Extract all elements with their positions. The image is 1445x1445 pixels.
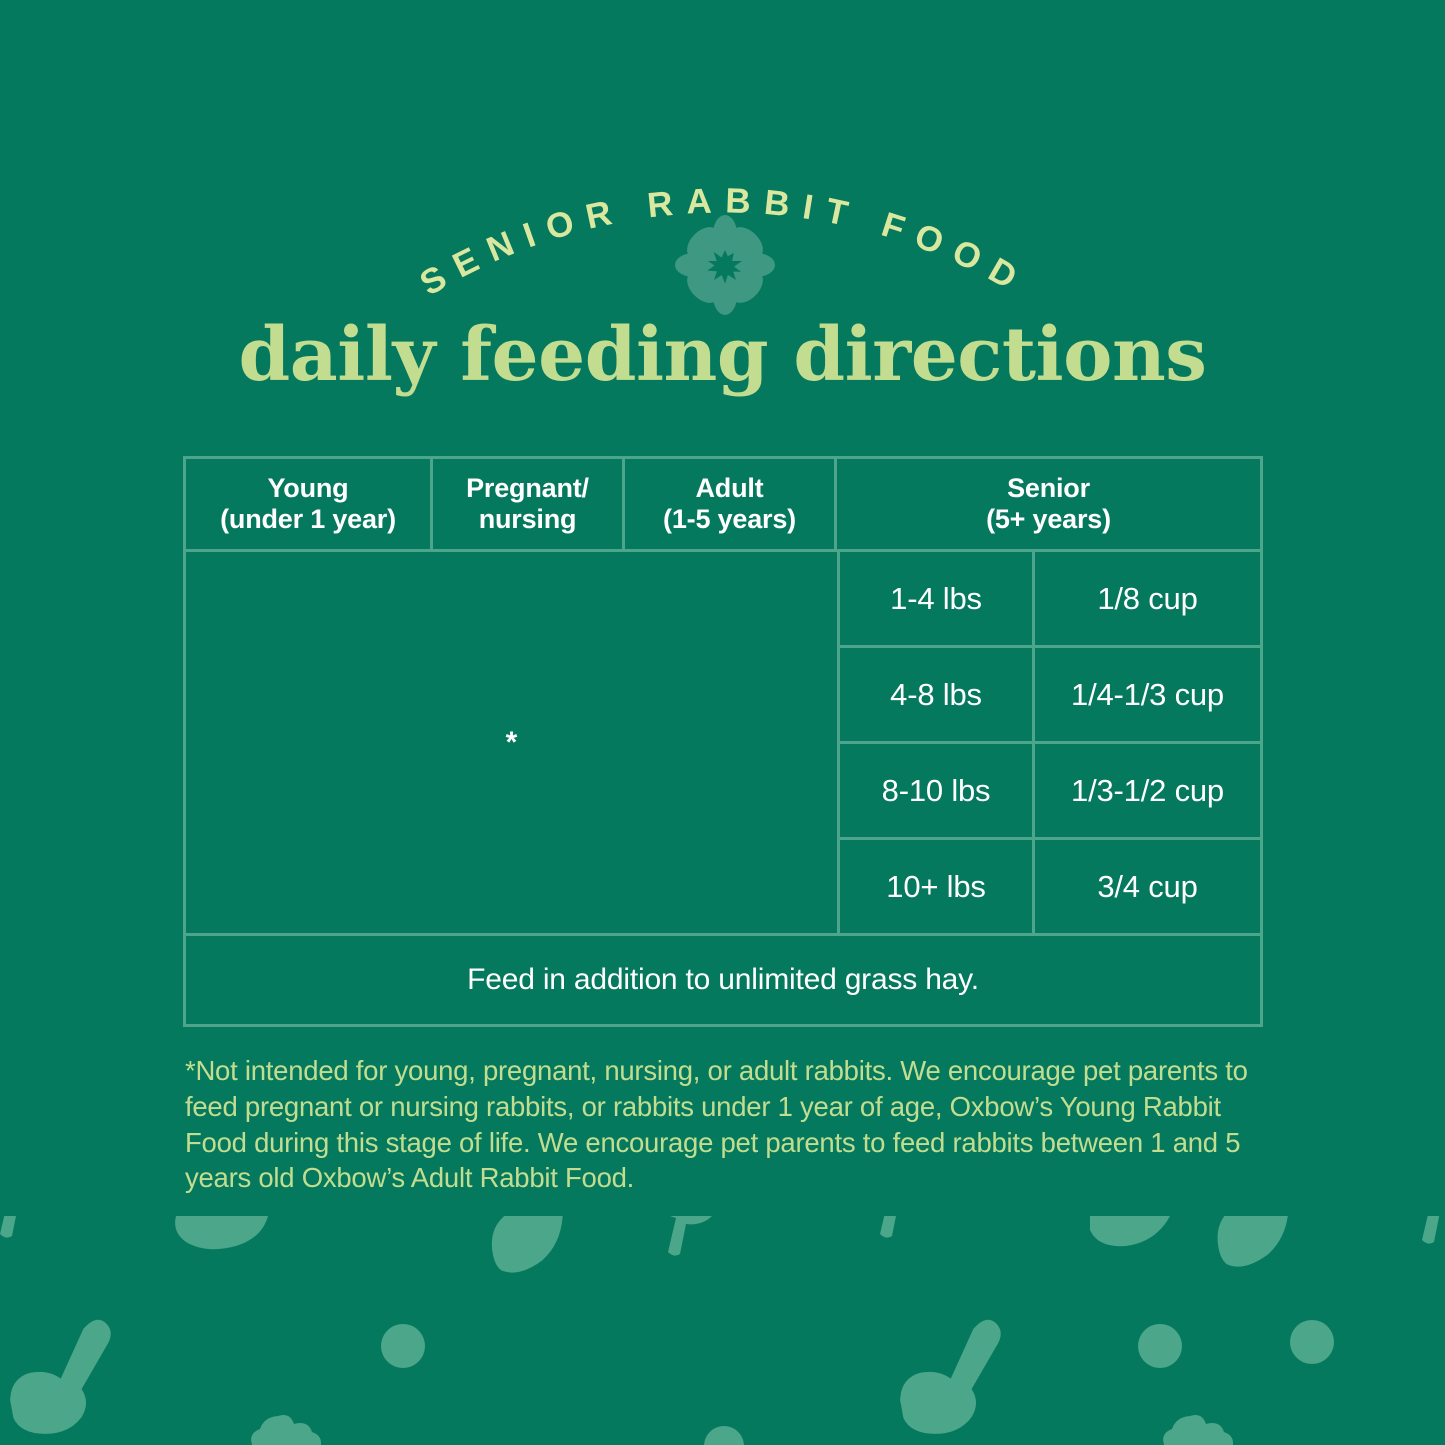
column-header-adult: Adult (1-5 years) <box>625 459 837 552</box>
column-header-pregnant: Pregnant/ nursing <box>433 459 625 552</box>
table-header-row: Young (under 1 year) Pregnant/ nursing A… <box>186 459 1260 552</box>
table-row: 1-4 lbs 1/8 cup <box>840 552 1260 648</box>
column-header-adult-line2: (1-5 years) <box>663 504 796 535</box>
merged-not-applicable-cell: * <box>186 552 840 936</box>
table-row: 10+ lbs 3/4 cup <box>840 840 1260 936</box>
table-row: 4-8 lbs 1/4-1/3 cup <box>840 648 1260 744</box>
senior-weight-cell: 1-4 lbs <box>840 552 1035 645</box>
column-header-senior-line1: Senior <box>1007 473 1090 504</box>
feeding-table: Young (under 1 year) Pregnant/ nursing A… <box>183 456 1263 1027</box>
column-header-pregnant-line1: Pregnant/ <box>466 473 589 504</box>
flower-rosette-icon <box>674 214 776 316</box>
senior-rows-group: 1-4 lbs 1/8 cup 4-8 lbs 1/4-1/3 cup 8-10… <box>840 552 1260 936</box>
senior-amount-cell: 1/4-1/3 cup <box>1035 648 1260 741</box>
feeding-directions-panel: SENIOR RABBIT FOOD <box>0 0 1445 1445</box>
column-header-senior-line2: (5+ years) <box>986 504 1111 535</box>
column-header-senior: Senior (5+ years) <box>837 459 1260 552</box>
table-footer-note: Feed in addition to unlimited grass hay. <box>186 936 1260 1024</box>
senior-amount-cell: 1/3-1/2 cup <box>1035 744 1260 837</box>
column-header-adult-line1: Adult <box>696 473 764 504</box>
senior-weight-cell: 8-10 lbs <box>840 744 1035 837</box>
senior-weight-cell: 4-8 lbs <box>840 648 1035 741</box>
page-title: daily feeding directions <box>0 318 1445 392</box>
botanical-rabbit-pattern <box>0 1216 1445 1445</box>
column-header-young: Young (under 1 year) <box>186 459 433 552</box>
table-body: * 1-4 lbs 1/8 cup 4-8 lbs 1/4-1/3 cup 8-… <box>186 552 1260 936</box>
footnote-text: *Not intended for young, pregnant, nursi… <box>185 1053 1268 1196</box>
column-header-young-line2: (under 1 year) <box>220 504 396 535</box>
column-header-pregnant-line2: nursing <box>479 504 577 535</box>
senior-amount-cell: 3/4 cup <box>1035 840 1260 933</box>
column-header-young-line1: Young <box>268 473 349 504</box>
table-row: 8-10 lbs 1/3-1/2 cup <box>840 744 1260 840</box>
senior-amount-cell: 1/8 cup <box>1035 552 1260 645</box>
senior-weight-cell: 10+ lbs <box>840 840 1035 933</box>
